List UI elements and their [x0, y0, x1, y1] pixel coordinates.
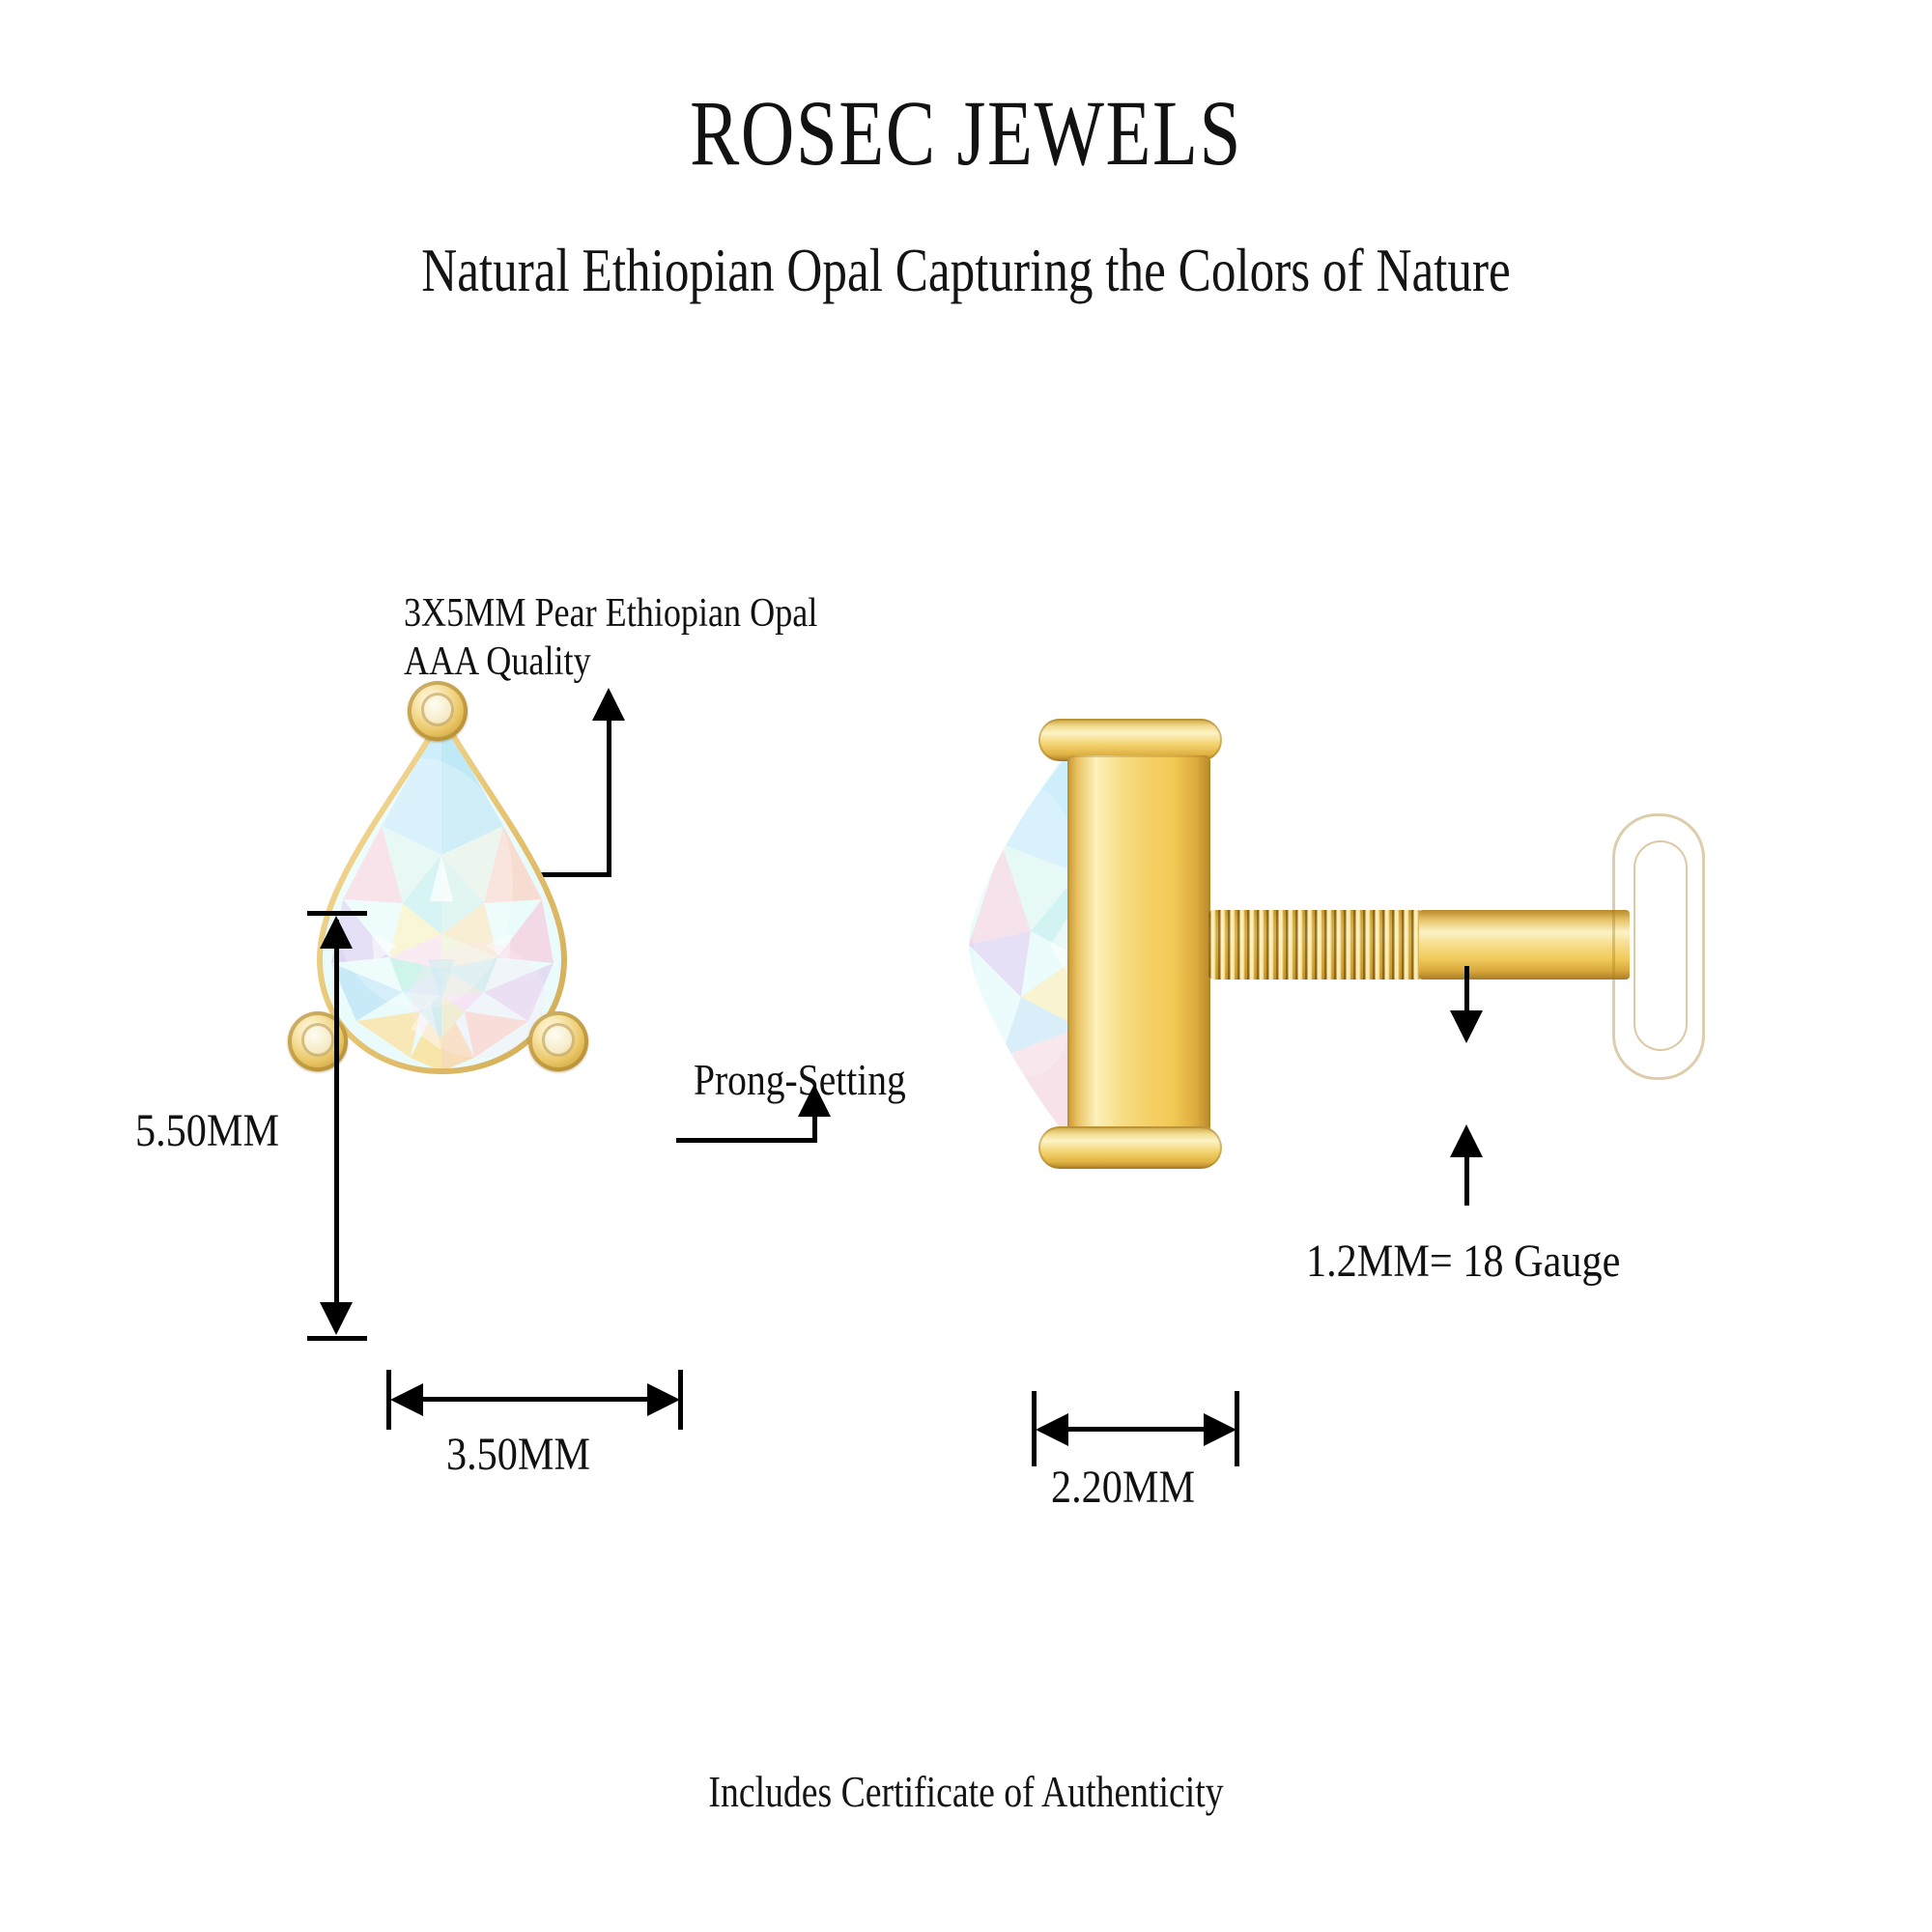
prong-leader-horizontal: [676, 1138, 817, 1143]
threaded-post: [1208, 910, 1423, 980]
prong-bottom-right: [528, 1011, 588, 1071]
gauge-arrow-bottom: [1450, 1124, 1483, 1157]
height-dimension-line: [334, 920, 339, 1329]
gemstone-leader-line: [607, 715, 611, 877]
gemstone-side-profile: [963, 738, 1079, 1151]
gauge-arrow-top: [1450, 1010, 1483, 1043]
post-shaft: [1419, 910, 1630, 980]
certificate-note: Includes Certificate of Authenticity: [174, 1766, 1758, 1817]
prong-leader-arrow: [798, 1084, 831, 1117]
gauge-line-bottom: [1464, 1155, 1469, 1206]
height-dimension-label: 5.50MM: [135, 1104, 279, 1157]
gauge-label: 1.2MM= 18 Gauge: [1306, 1235, 1620, 1288]
height-arrow-top: [320, 916, 353, 949]
flat-back-disc-inner: [1634, 840, 1688, 1051]
gemstone-front-view: [314, 710, 570, 1077]
width-arrow-right: [647, 1383, 680, 1416]
depth-dimension-label: 2.20MM: [1051, 1461, 1195, 1514]
product-spec-diagram: ROSEC JEWELS Natural Ethiopian Opal Capt…: [0, 0, 1932, 1932]
width-dimension-line: [396, 1397, 674, 1402]
width-arrow-left: [390, 1383, 423, 1416]
setting-rail-bottom: [1038, 1126, 1222, 1169]
height-arrow-bottom: [320, 1302, 353, 1335]
height-tick-bottom: [307, 1336, 367, 1341]
earring-side-view: [1019, 705, 1811, 1323]
depth-arrow-left: [1036, 1413, 1068, 1446]
width-dimension-label: 3.50MM: [446, 1428, 590, 1481]
depth-dimension-line: [1041, 1427, 1231, 1432]
gauge-line-top: [1464, 966, 1469, 1016]
page-title: ROSEC JEWELS: [193, 85, 1739, 183]
prong-leader-riser: [812, 1115, 817, 1140]
pear-opal-gem: [314, 710, 570, 1077]
gemstone-callout-line2: AAA Quality: [404, 638, 591, 687]
page-subtitle: Natural Ethiopian Opal Capturing the Col…: [193, 238, 1739, 302]
gemstone-callout-line1: 3X5MM Pear Ethiopian Opal: [404, 589, 817, 639]
prong-top: [408, 681, 468, 741]
depth-arrow-right: [1204, 1413, 1236, 1446]
setting-body: [1067, 755, 1210, 1132]
gemstone-leader-arrow: [592, 688, 625, 721]
